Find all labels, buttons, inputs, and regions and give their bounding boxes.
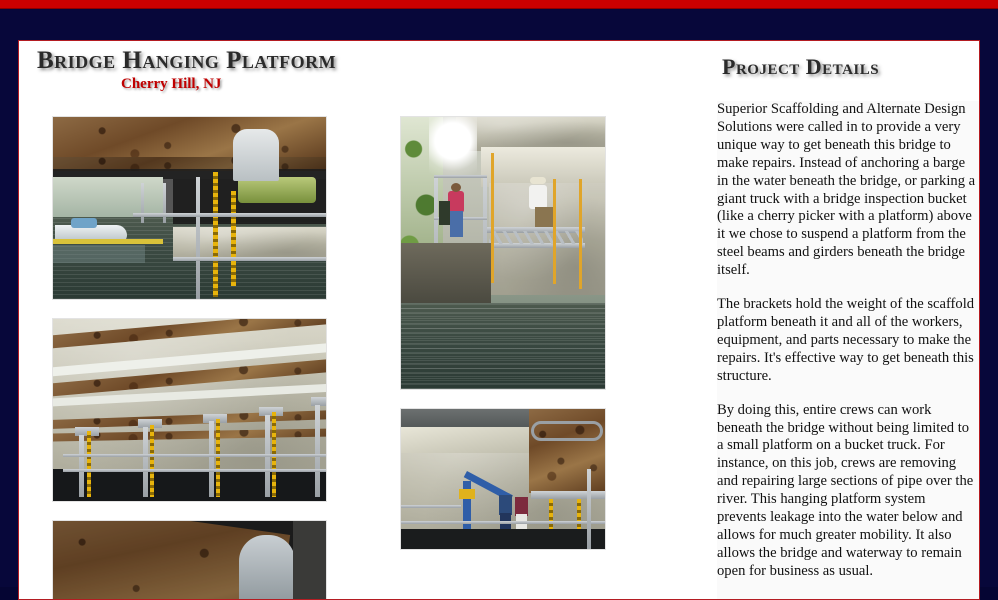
details-paragraph-2: The brackets hold the weight of the scaf… — [717, 296, 977, 386]
project-details-column: Superior Scaffolding and Alternate Desig… — [717, 101, 980, 599]
photo-chain-hoist-under-bridge — [53, 117, 326, 299]
details-paragraph-3: By doing this, entire crews can work ben… — [717, 402, 977, 581]
page-root: Bridge Hanging Platform Cherry Hill, NJ … — [0, 0, 998, 587]
page-subtitle-location: Cherry Hill, NJ — [121, 76, 221, 93]
page-title: Bridge Hanging Platform — [37, 47, 336, 75]
gallery-middle-column — [401, 117, 631, 569]
photo-crew-under-deck — [401, 409, 605, 549]
content-panel: Bridge Hanging Platform Cherry Hill, NJ … — [18, 40, 980, 600]
project-details-heading: Project Details — [722, 54, 879, 80]
photo-workers-on-platform — [401, 117, 605, 389]
details-paragraph-1: Superior Scaffolding and Alternate Desig… — [717, 101, 977, 280]
photo-beams-brackets — [53, 319, 326, 501]
gallery-left-column — [53, 117, 353, 600]
photo-girder-closeup — [53, 521, 326, 600]
top-red-bar — [0, 0, 998, 9]
